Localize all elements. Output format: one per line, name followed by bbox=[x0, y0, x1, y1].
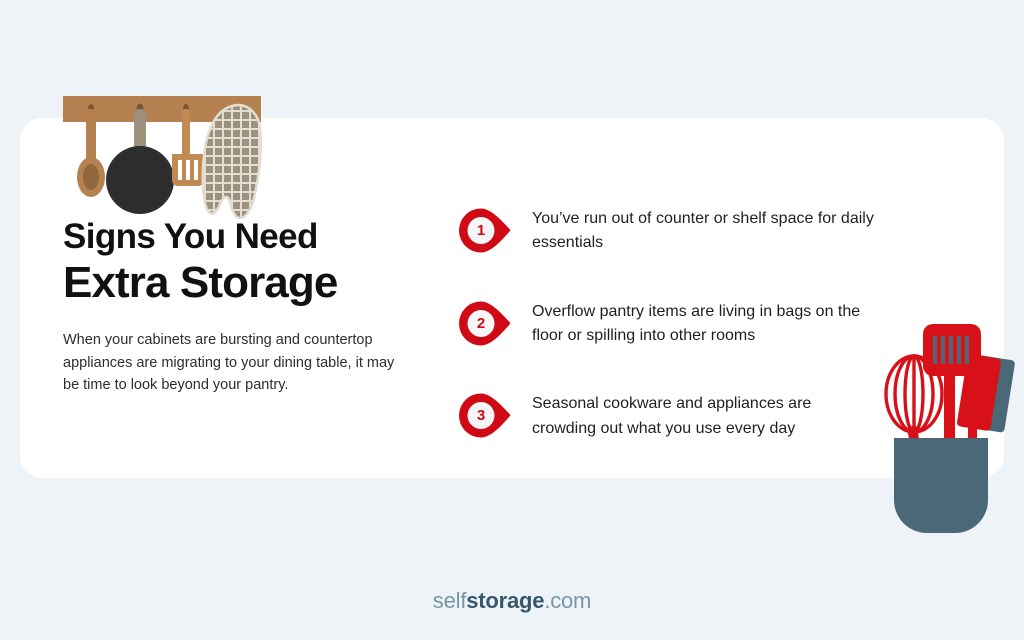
number-badge-3: 3 bbox=[458, 392, 512, 439]
list-item-text: Seasonal cookware and appliances are cro… bbox=[532, 387, 878, 441]
hanging-kitchen-rack-illustration bbox=[60, 92, 275, 222]
list-item: 3 Seasonal cookware and appliances are c… bbox=[458, 387, 878, 441]
badge-number-label: 1 bbox=[458, 207, 504, 254]
whisk-icon bbox=[886, 356, 942, 432]
list-item: 2 Overflow pantry items are living in ba… bbox=[458, 295, 878, 349]
logo-text-self: self bbox=[433, 588, 466, 613]
crock-body bbox=[894, 438, 988, 533]
frying-pan-body bbox=[106, 146, 174, 214]
badge-number-label: 2 bbox=[458, 300, 504, 347]
number-badge-1: 1 bbox=[458, 207, 512, 254]
spatula-slot bbox=[178, 160, 182, 180]
wooden-spoon-bowl-inner bbox=[83, 164, 99, 190]
logo-text-dotcom: .com bbox=[544, 588, 591, 613]
list-item-text: You’ve run out of counter or shelf space… bbox=[532, 202, 878, 256]
signs-list: 1 You’ve run out of counter or shelf spa… bbox=[458, 202, 878, 441]
spatula-slot bbox=[194, 160, 198, 180]
list-item-text: Overflow pantry items are living in bags… bbox=[532, 295, 878, 349]
number-badge-2: 2 bbox=[458, 300, 512, 347]
list-item: 1 You’ve run out of counter or shelf spa… bbox=[458, 202, 878, 256]
page-title-line-1: Signs You Need bbox=[63, 218, 408, 256]
footer-logo[interactable]: selfstorage.com bbox=[0, 588, 1024, 614]
logo-text-storage: storage bbox=[466, 588, 544, 613]
spatula-handle bbox=[182, 109, 190, 156]
utensil-crock-illustration bbox=[876, 320, 1024, 545]
intro-paragraph: When your cabinets are bursting and coun… bbox=[63, 329, 398, 396]
wooden-spoon-handle bbox=[86, 109, 96, 164]
utensil-crock-svg bbox=[876, 320, 1024, 545]
headline-block: Signs You Need Extra Storage When your c… bbox=[63, 218, 408, 397]
page-title-line-2: Extra Storage bbox=[63, 259, 408, 307]
infographic-canvas: Signs You Need Extra Storage When your c… bbox=[0, 0, 1024, 640]
spatula-slot bbox=[186, 160, 190, 180]
hanging-rack-svg bbox=[60, 92, 275, 222]
badge-number-label: 3 bbox=[458, 392, 504, 439]
